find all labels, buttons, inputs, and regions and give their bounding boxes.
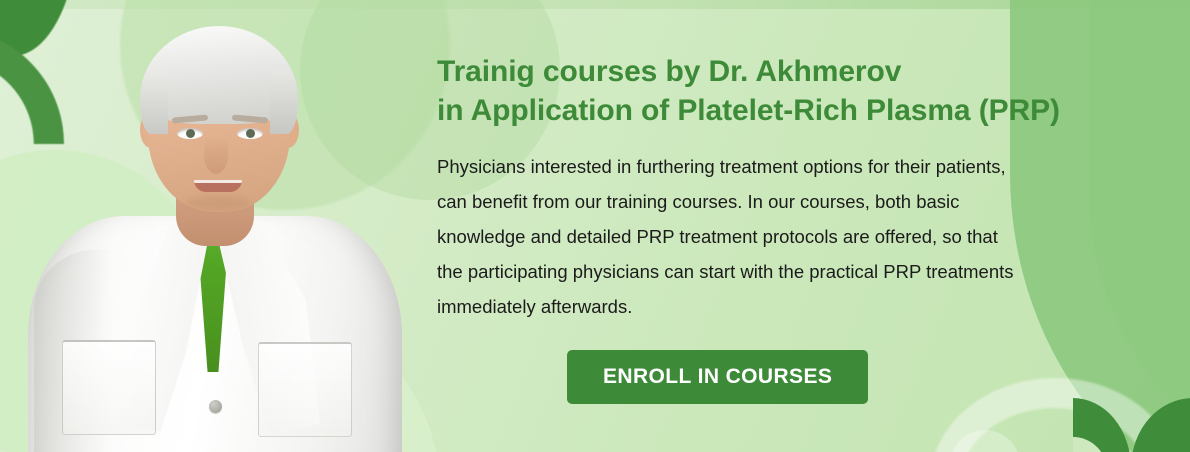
headline-line-2: in Application of Platelet-Rich Plasma (…	[437, 91, 1153, 130]
pupil-left	[186, 129, 195, 138]
pupil-right	[246, 129, 255, 138]
body-line-4: the participating physicians can start w…	[437, 254, 1107, 289]
coat-button	[209, 400, 222, 413]
body-line-2: can benefit from our training courses. I…	[437, 184, 1107, 219]
coat-pocket-right	[258, 342, 352, 437]
body-line-5: immediately afterwards.	[437, 289, 1107, 324]
mouth	[194, 180, 242, 192]
doctor-portrait	[0, 0, 430, 452]
banner-content: Trainig courses by Dr. Akhmerov in Appli…	[437, 52, 1153, 404]
prp-training-hero-banner: Trainig courses by Dr. Akhmerov in Appli…	[0, 0, 1190, 452]
hair-side-left	[140, 70, 168, 134]
hair-side-right	[270, 70, 298, 134]
banner-body-text: Physicians interested in furthering trea…	[437, 149, 1107, 324]
headline-line-1: Trainig courses by Dr. Akhmerov	[437, 52, 1153, 91]
cta-container: ENROLL IN COURSES	[437, 350, 1153, 404]
banner-headline: Trainig courses by Dr. Akhmerov in Appli…	[437, 52, 1153, 130]
body-line-1: Physicians interested in furthering trea…	[437, 149, 1107, 184]
body-line-3: knowledge and detailed PRP treatment pro…	[437, 219, 1107, 254]
enroll-in-courses-button[interactable]: ENROLL IN COURSES	[567, 350, 868, 404]
chin-shadow	[186, 196, 250, 210]
nose	[204, 136, 228, 174]
coat-pocket-left	[62, 340, 156, 435]
